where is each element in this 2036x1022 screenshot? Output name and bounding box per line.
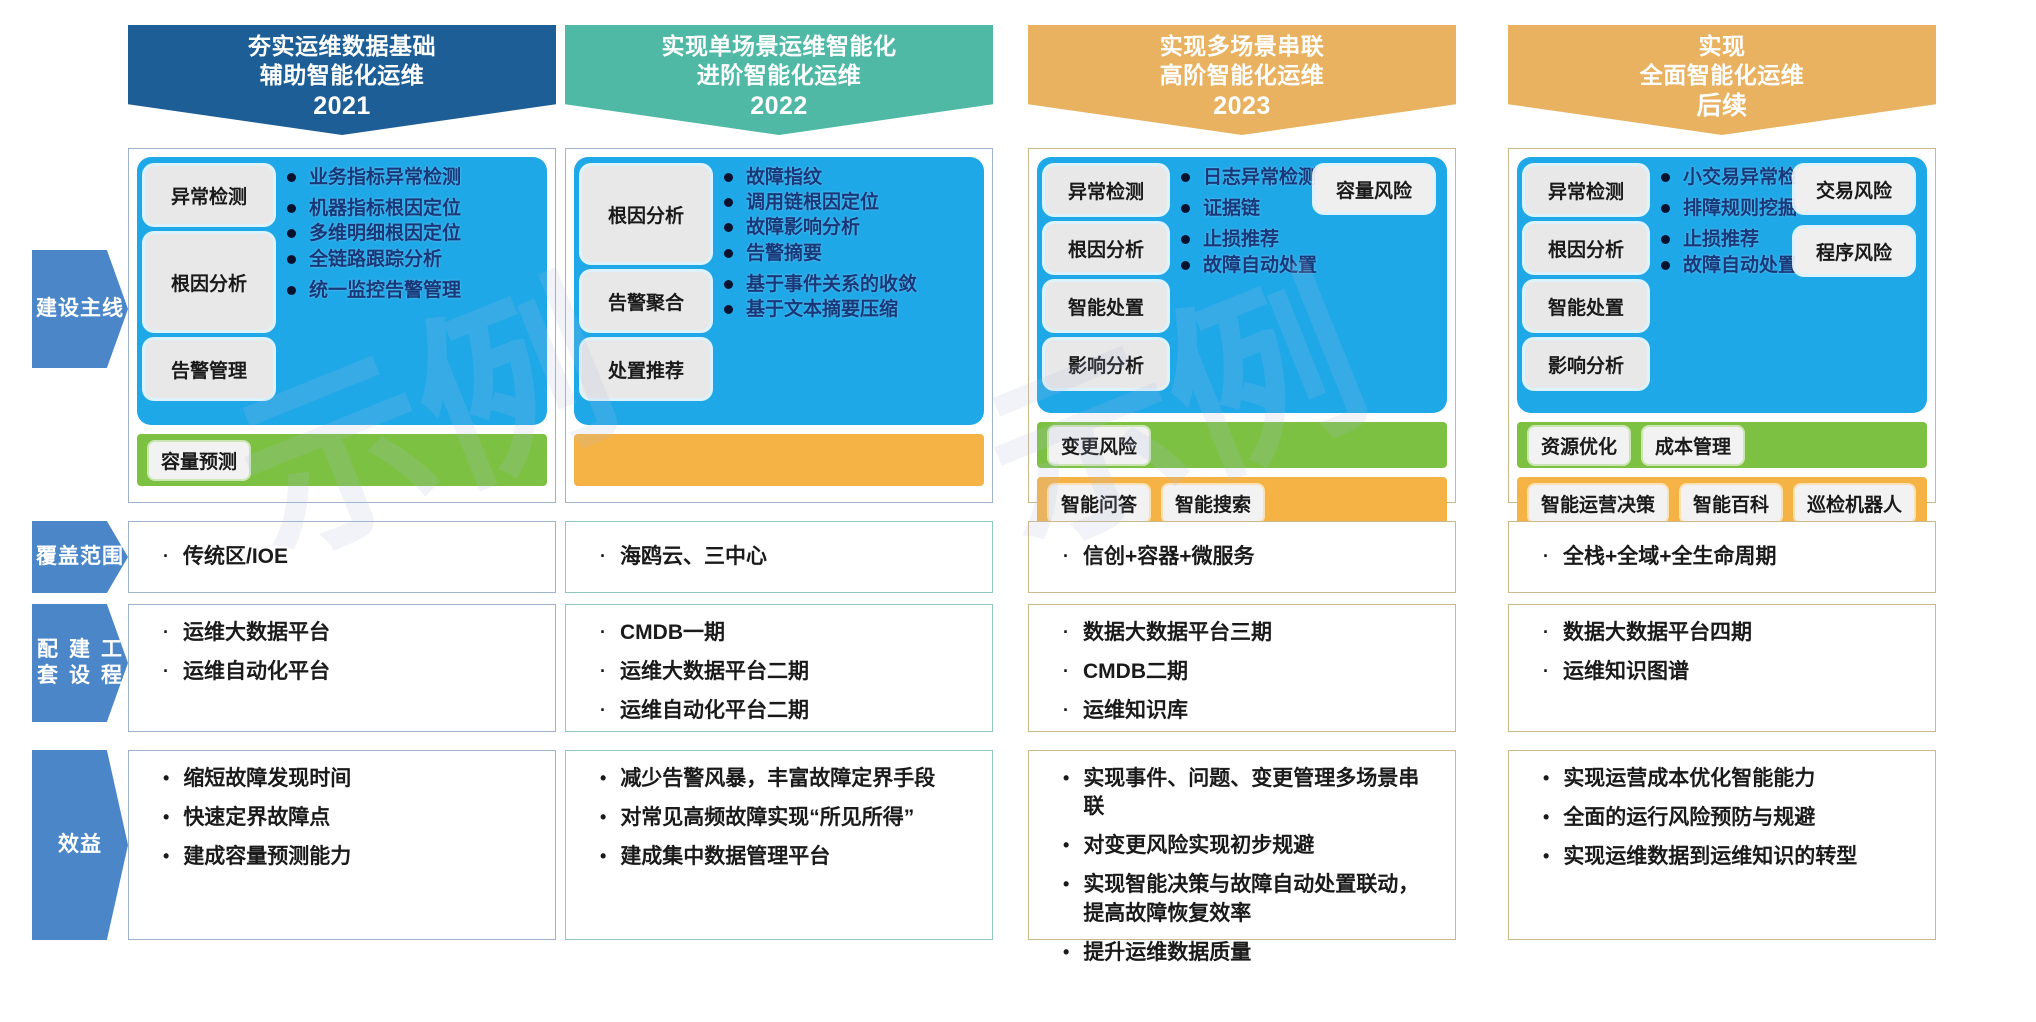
orange-tag[interactable]: 智能问答 [1049, 485, 1149, 522]
bullet-text: 基于事件关系的收敛 [746, 273, 917, 296]
bullet-dot-icon [287, 286, 296, 295]
banner-line-1: 夯实运维数据基础 [248, 32, 436, 61]
list-item: •实现智能决策与故障自动处置联动，提高故障恢复效率 [1045, 871, 1439, 927]
bullet-group: 统一监控告警管理 [287, 279, 539, 302]
list-item-text: 快速定界故障点 [183, 804, 539, 832]
list-item-text: 运维知识图谱 [1563, 658, 1919, 686]
bullet-marker-icon: • [1063, 939, 1069, 966]
bullet-dot-icon [1181, 173, 1190, 182]
bullet-marker-icon: · [1543, 658, 1549, 685]
banner-line-1: 实现单场景运维智能化 [662, 32, 897, 61]
bullet-marker-icon: · [1543, 543, 1549, 570]
bullet-item: 故障影响分析 [724, 216, 976, 239]
row-label-benefits: 效益 [32, 750, 128, 940]
orange-tag[interactable]: 智能搜索 [1163, 485, 1263, 522]
list-item-text: 减少告警风暴，丰富故障定界手段 [620, 765, 976, 793]
bullet-item: 故障自动处置 [1181, 254, 1439, 277]
bullet-dot-icon [287, 255, 296, 264]
bullet-item: 调用链根因定位 [724, 191, 976, 214]
bullet-marker-icon: · [1063, 619, 1069, 646]
banner-year: 2021 [313, 91, 371, 121]
benefits-card-phase-2022: •减少告警风暴，丰富故障定界手段•对常见高频故障实现“所见所得”•建成集中数据管… [565, 750, 993, 940]
row-label-line: 范围 [80, 544, 124, 570]
list-item: ·CMDB二期 [1045, 658, 1439, 686]
bullet-marker-icon: · [1543, 619, 1549, 646]
row-label-line: 建设 [36, 296, 80, 322]
row-label-line: 工程 [96, 637, 128, 690]
list-item: ·运维自动化平台二期 [582, 697, 976, 725]
bullet-marker-icon: · [163, 658, 169, 685]
bullet-dot-icon [724, 249, 733, 258]
capability-chip[interactable]: 根因分析 [145, 234, 273, 330]
bullet-marker-icon: · [600, 658, 606, 685]
bullet-text: 业务指标异常检测 [309, 166, 461, 189]
list-item: •实现运维数据到运维知识的转型 [1525, 843, 1919, 871]
bullet-text: 故障影响分析 [746, 216, 860, 239]
list-item: •建成容量预测能力 [145, 843, 539, 871]
bullet-text: 机器指标根因定位 [309, 197, 461, 220]
coverage-card-phase-future: ·全栈+全域+全生命周期 [1508, 521, 1936, 593]
list-item-text: CMDB一期 [620, 619, 976, 647]
capability-bullet-area: 日志异常检测证据链止损推荐故障自动处置容量风险 [1167, 166, 1439, 404]
bullet-text: 排障规则挖掘 [1683, 197, 1797, 220]
bullet-text: 止损推荐 [1683, 228, 1759, 251]
bullet-group: 业务指标异常检测 [287, 166, 539, 189]
capability-chip[interactable]: 异常检测 [145, 166, 273, 224]
bullet-marker-icon: · [600, 543, 606, 570]
list-item-text: CMDB二期 [1083, 658, 1439, 686]
bullet-dot-icon [1661, 261, 1670, 270]
bullet-dot-icon [1181, 204, 1190, 213]
banner-line-2: 高阶智能化运维 [1160, 61, 1325, 90]
list-item-text: 传统区/IOE [183, 543, 288, 571]
bullet-item: 全链路跟踪分析 [287, 248, 539, 271]
list-item: •快速定界故障点 [145, 804, 539, 832]
list-item-text: 全面的运行风险预防与规避 [1563, 804, 1919, 832]
capability-chip[interactable]: 告警聚合 [582, 272, 710, 330]
bullet-text: 多维明细根因定位 [309, 222, 461, 245]
row-label-build-mainline: 建设主线 [32, 250, 128, 368]
capability-chip-list: 根因分析告警聚合处置推荐 [582, 166, 710, 416]
capability-chip[interactable]: 告警管理 [145, 340, 273, 398]
list-item-text: 运维知识库 [1083, 697, 1439, 725]
list-item-text: 建成容量预测能力 [183, 843, 539, 871]
list-item: •实现运营成本优化智能能力 [1525, 765, 1919, 793]
bullet-text: 基于文本摘要压缩 [746, 298, 898, 321]
capability-panel: 根因分析告警聚合处置推荐故障指纹调用链根因定位故障影响分析告警摘要基于事件关系的… [574, 157, 984, 425]
phase-banner-phase-2021: 夯实运维数据基础辅助智能化运维2021 [128, 25, 556, 135]
bullet-marker-icon: • [1063, 765, 1069, 792]
capability-chip[interactable]: 影响分析 [1045, 340, 1167, 388]
list-item-text: 信创+容器+微服务 [1083, 543, 1255, 571]
row-label-line: 配套 [32, 637, 64, 690]
bullet-marker-icon: • [1063, 832, 1069, 859]
risk-tag-list: 交易风险程序风险 [1795, 166, 1913, 290]
list-item: ·运维大数据平台二期 [582, 658, 976, 686]
banner-year: 后续 [1696, 91, 1747, 121]
bullet-item: 基于事件关系的收敛 [724, 273, 976, 296]
phase-column-phase-future: 实现全面智能化运维后续异常检测根因分析智能处置影响分析小交易异常检测排障规则挖掘… [1508, 0, 1936, 1022]
capability-bullet-area: 业务指标异常检测机器指标根因定位多维明细根因定位全链路跟踪分析统一监控告警管理 [273, 166, 539, 416]
bullet-item: 统一监控告警管理 [287, 279, 539, 302]
row-label-column: 建设主线 覆盖范围 配套建设工程 效益 [24, 0, 134, 1022]
list-item: ·CMDB一期 [582, 619, 976, 647]
bullet-group: 止损推荐故障自动处置 [1181, 228, 1439, 276]
green-capability-bar: 变更风险 [1037, 422, 1447, 468]
list-item-text: 实现运维数据到运维知识的转型 [1563, 843, 1919, 871]
list-item-text: 数据大数据平台四期 [1563, 619, 1919, 647]
capability-panel: 异常检测根因分析智能处置影响分析小交易异常检测排障规则挖掘止损推荐故障自动处置交… [1517, 157, 1927, 413]
bullet-item: 业务指标异常检测 [287, 166, 539, 189]
capability-chip[interactable]: 异常检测 [1045, 166, 1167, 214]
bullet-marker-icon: · [163, 619, 169, 646]
bullet-text: 证据链 [1203, 197, 1260, 220]
list-item-text: 海鸥云、三中心 [620, 543, 767, 571]
phase-columns: 夯实运维数据基础辅助智能化运维2021异常检测根因分析告警管理业务指标异常检测机… [128, 0, 2020, 1022]
bullet-dot-icon [1661, 173, 1670, 182]
engineering-card-phase-2022: ·CMDB一期·运维大数据平台二期·运维自动化平台二期 [565, 604, 993, 732]
bullet-dot-icon [724, 280, 733, 289]
capability-chip[interactable]: 智能处置 [1525, 282, 1647, 330]
bullet-text: 止损推荐 [1203, 228, 1279, 251]
bullet-dot-icon [724, 173, 733, 182]
capability-chip[interactable]: 处置推荐 [582, 340, 710, 398]
engineering-card-phase-2021: ·运维大数据平台·运维自动化平台 [128, 604, 556, 732]
risk-tag[interactable]: 程序风险 [1795, 228, 1913, 274]
list-item: ·全栈+全域+全生命周期 [1525, 543, 1777, 571]
bullet-marker-icon: • [1063, 871, 1069, 898]
bullet-dot-icon [287, 229, 296, 238]
list-item-text: 提升运维数据质量 [1083, 939, 1439, 967]
bullet-group: 机器指标根因定位多维明细根因定位全链路跟踪分析 [287, 197, 539, 271]
bullet-marker-icon: • [1543, 843, 1549, 870]
orange-capability-bar [574, 434, 984, 486]
mainline-card-phase-2022: 根因分析告警聚合处置推荐故障指纹调用链根因定位故障影响分析告警摘要基于事件关系的… [565, 148, 993, 503]
phase-banner-phase-2023: 实现多场景串联高阶智能化运维2023 [1028, 25, 1456, 135]
row-label-supporting-projects: 配套建设工程 [32, 604, 128, 722]
green-tag[interactable]: 资源优化 [1529, 427, 1629, 464]
capability-chip-list: 异常检测根因分析智能处置影响分析 [1045, 166, 1167, 404]
bullet-marker-icon: · [600, 697, 606, 724]
list-item: ·运维大数据平台 [145, 619, 539, 647]
capability-bullet-area: 小交易异常检测排障规则挖掘止损推荐故障自动处置交易风险程序风险 [1647, 166, 1919, 404]
engineering-card-phase-future: ·数据大数据平台四期·运维知识图谱 [1508, 604, 1936, 732]
green-capability-bar: 容量预测 [137, 434, 547, 486]
list-item: •提升运维数据质量 [1045, 939, 1439, 967]
bullet-dot-icon [1181, 261, 1190, 270]
green-tag[interactable]: 容量预测 [149, 442, 249, 479]
bullet-marker-icon: • [600, 765, 606, 792]
banner-line-2: 全面智能化运维 [1640, 61, 1805, 90]
list-item: •缩短故障发现时间 [145, 765, 539, 793]
banner-line-1: 实现 [1699, 32, 1746, 61]
banner-line-1: 实现多场景串联 [1160, 32, 1325, 61]
list-item-text: 运维自动化平台 [183, 658, 539, 686]
bullet-dot-icon [724, 223, 733, 232]
coverage-card-phase-2022: ·海鸥云、三中心 [565, 521, 993, 593]
risk-tag[interactable]: 容量风险 [1315, 166, 1433, 212]
orange-tag[interactable]: 巡检机器人 [1795, 485, 1914, 522]
list-item-text: 实现事件、问题、变更管理多场景串联 [1083, 765, 1439, 821]
bullet-dot-icon [287, 204, 296, 213]
mainline-card-phase-2021: 异常检测根因分析告警管理业务指标异常检测机器指标根因定位多维明细根因定位全链路跟… [128, 148, 556, 503]
bullet-text: 日志异常检测 [1203, 166, 1317, 189]
list-item: •实现事件、问题、变更管理多场景串联 [1045, 765, 1439, 821]
benefits-card-phase-future: •实现运营成本优化智能能力•全面的运行风险预防与规避•实现运维数据到运维知识的转… [1508, 750, 1936, 940]
bullet-text: 调用链根因定位 [746, 191, 879, 214]
bullet-dot-icon [1181, 235, 1190, 244]
list-item-text: 缩短故障发现时间 [183, 765, 539, 793]
bullet-marker-icon: · [1063, 658, 1069, 685]
list-item: ·传统区/IOE [145, 543, 288, 571]
list-item-text: 全栈+全域+全生命周期 [1563, 543, 1777, 571]
bullet-marker-icon: • [1543, 765, 1549, 792]
list-item: •建成集中数据管理平台 [582, 843, 976, 871]
list-item-text: 数据大数据平台三期 [1083, 619, 1439, 647]
banner-year: 2023 [1213, 91, 1271, 121]
row-label-coverage-scope: 覆盖范围 [32, 521, 128, 593]
bullet-item: 基于文本摘要压缩 [724, 298, 976, 321]
bullet-marker-icon: · [600, 619, 606, 646]
phase-banner-phase-2022: 实现单场景运维智能化进阶智能化运维2022 [565, 25, 993, 135]
engineering-card-phase-2023: ·数据大数据平台三期·CMDB二期·运维知识库 [1028, 604, 1456, 732]
row-label-line: 主线 [80, 296, 124, 322]
list-item: ·运维自动化平台 [145, 658, 539, 686]
list-item: ·运维知识库 [1045, 697, 1439, 725]
bullet-marker-icon: • [600, 804, 606, 831]
list-item: •全面的运行风险预防与规避 [1525, 804, 1919, 832]
bullet-item: 告警摘要 [724, 242, 976, 265]
capability-chip[interactable]: 根因分析 [1525, 224, 1647, 272]
list-item: ·数据大数据平台四期 [1525, 619, 1919, 647]
bullet-group: 基于事件关系的收敛基于文本摘要压缩 [724, 273, 976, 321]
bullet-dot-icon [724, 198, 733, 207]
list-item-text: 实现智能决策与故障自动处置联动，提高故障恢复效率 [1083, 871, 1439, 927]
capability-panel: 异常检测根因分析智能处置影响分析日志异常检测证据链止损推荐故障自动处置容量风险 [1037, 157, 1447, 413]
phase-column-phase-2022: 实现单场景运维智能化进阶智能化运维2022根因分析告警聚合处置推荐故障指纹调用链… [565, 0, 993, 1022]
bullet-item: 止损推荐 [1181, 228, 1439, 251]
mainline-card-phase-future: 异常检测根因分析智能处置影响分析小交易异常检测排障规则挖掘止损推荐故障自动处置交… [1508, 148, 1936, 503]
list-item: •减少告警风暴，丰富故障定界手段 [582, 765, 976, 793]
mainline-card-phase-2023: 异常检测根因分析智能处置影响分析日志异常检测证据链止损推荐故障自动处置容量风险变… [1028, 148, 1456, 503]
bullet-item: 机器指标根因定位 [287, 197, 539, 220]
risk-tag-list: 容量风险 [1315, 166, 1433, 228]
row-label-line: 效益 [58, 832, 102, 858]
phase-column-phase-2023: 实现多场景串联高阶智能化运维2023异常检测根因分析智能处置影响分析日志异常检测… [1028, 0, 1456, 1022]
benefits-card-phase-2021: •缩短故障发现时间•快速定界故障点•建成容量预测能力 [128, 750, 556, 940]
capability-chip[interactable]: 根因分析 [582, 166, 710, 262]
list-item-text: 实现运营成本优化智能能力 [1563, 765, 1919, 793]
green-tag[interactable]: 变更风险 [1049, 427, 1149, 464]
coverage-card-phase-2023: ·信创+容器+微服务 [1028, 521, 1456, 593]
capability-chip[interactable]: 智能处置 [1045, 282, 1167, 330]
list-item: ·海鸥云、三中心 [582, 543, 767, 571]
capability-bullet-area: 故障指纹调用链根因定位故障影响分析告警摘要基于事件关系的收敛基于文本摘要压缩 [710, 166, 976, 416]
phase-banner-phase-future: 实现全面智能化运维后续 [1508, 25, 1936, 135]
row-label-line: 覆盖 [36, 544, 80, 570]
list-item: ·信创+容器+微服务 [1045, 543, 1255, 571]
coverage-card-phase-2021: ·传统区/IOE [128, 521, 556, 593]
bullet-dot-icon [287, 173, 296, 182]
bullet-marker-icon: • [1543, 804, 1549, 831]
list-item: •对常见高频故障实现“所见所得” [582, 804, 976, 832]
bullet-marker-icon: · [1063, 697, 1069, 724]
row-label-line: 建设 [64, 637, 96, 690]
bullet-text: 故障自动处置 [1203, 254, 1317, 277]
orange-tag[interactable]: 智能运营决策 [1529, 485, 1667, 522]
phase-column-phase-2021: 夯实运维数据基础辅助智能化运维2021异常检测根因分析告警管理业务指标异常检测机… [128, 0, 556, 1022]
benefits-card-phase-2023: •实现事件、问题、变更管理多场景串联•对变更风险实现初步规避•实现智能决策与故障… [1028, 750, 1456, 940]
bullet-text: 故障自动处置 [1683, 254, 1797, 277]
capability-chip[interactable]: 异常检测 [1525, 166, 1647, 214]
bullet-text: 全链路跟踪分析 [309, 248, 442, 271]
risk-tag[interactable]: 交易风险 [1795, 166, 1913, 212]
bullet-text: 告警摘要 [746, 242, 822, 265]
list-item-text: 对变更风险实现初步规避 [1083, 832, 1439, 860]
bullet-item: 故障指纹 [724, 166, 976, 189]
bullet-text: 统一监控告警管理 [309, 279, 461, 302]
banner-line-2: 辅助智能化运维 [260, 61, 425, 90]
list-item-text: 运维自动化平台二期 [620, 697, 976, 725]
capability-chip-list: 异常检测根因分析智能处置影响分析 [1525, 166, 1647, 404]
capability-chip-list: 异常检测根因分析告警管理 [145, 166, 273, 416]
bullet-group: 故障指纹调用链根因定位故障影响分析告警摘要 [724, 166, 976, 265]
banner-year: 2022 [750, 91, 808, 121]
bullet-dot-icon [724, 305, 733, 314]
bullet-item: 多维明细根因定位 [287, 222, 539, 245]
bullet-marker-icon: · [163, 543, 169, 570]
list-item-text: 对常见高频故障实现“所见所得” [620, 804, 976, 832]
green-tag[interactable]: 成本管理 [1643, 427, 1743, 464]
banner-line-2: 进阶智能化运维 [697, 61, 862, 90]
bullet-marker-icon: • [163, 765, 169, 792]
bullet-marker-icon: · [1063, 543, 1069, 570]
list-item-text: 运维大数据平台 [183, 619, 539, 647]
list-item: ·运维知识图谱 [1525, 658, 1919, 686]
capability-panel: 异常检测根因分析告警管理业务指标异常检测机器指标根因定位多维明细根因定位全链路跟… [137, 157, 547, 425]
bullet-marker-icon: • [163, 843, 169, 870]
roadmap-diagram: 建设主线 覆盖范围 配套建设工程 效益 夯实运维数据基础辅助智能化运维2021异… [0, 0, 2036, 1022]
green-capability-bar: 资源优化成本管理 [1517, 422, 1927, 468]
bullet-marker-icon: • [163, 804, 169, 831]
list-item: •对变更风险实现初步规避 [1045, 832, 1439, 860]
bullet-text: 故障指纹 [746, 166, 822, 189]
orange-tag[interactable]: 智能百科 [1681, 485, 1781, 522]
bullet-dot-icon [1661, 204, 1670, 213]
list-item-text: 建成集中数据管理平台 [620, 843, 976, 871]
capability-chip[interactable]: 根因分析 [1045, 224, 1167, 272]
list-item: ·数据大数据平台三期 [1045, 619, 1439, 647]
bullet-dot-icon [1661, 235, 1670, 244]
bullet-marker-icon: • [600, 843, 606, 870]
capability-chip[interactable]: 影响分析 [1525, 340, 1647, 388]
list-item-text: 运维大数据平台二期 [620, 658, 976, 686]
